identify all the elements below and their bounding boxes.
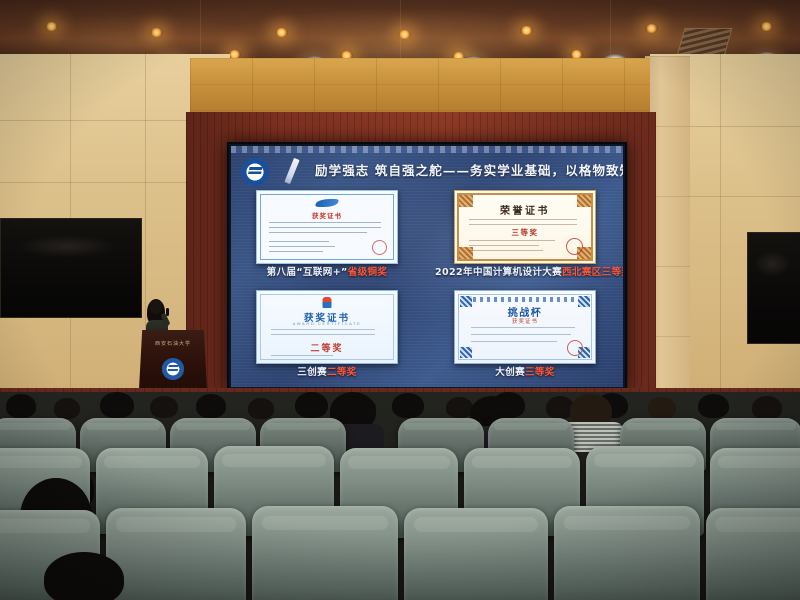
certificate-subheading: 获奖证书 — [512, 317, 538, 325]
audience-head — [196, 394, 226, 418]
certificate-caption: 2022年中国计算机设计大赛西北赛区三等奖 — [435, 264, 615, 278]
auditorium-seat — [106, 508, 246, 600]
presentation-slide: 励学强志 筑自强之舵——务实学业基础，以格物致知为祈求 获奖证书 — [231, 146, 623, 387]
auditorium-photo: 励学强志 筑自强之舵——务实学业基础，以格物致知为祈求 获奖证书 — [0, 0, 800, 600]
audience-head — [392, 393, 424, 418]
audience-area — [0, 392, 800, 600]
certificate-cell: 获奖证书 第八届“互联网+”省级铜奖 — [237, 190, 417, 282]
audience-head — [6, 394, 36, 418]
university-emblem-icon — [241, 158, 269, 186]
caption-main: 三创赛 — [297, 367, 327, 378]
auditorium-seat — [404, 508, 548, 600]
certificate-image-computer-design: 荣誉证书 三等奖 — [454, 190, 596, 264]
audience-head — [752, 396, 782, 420]
audience-head — [295, 392, 328, 418]
caption-main: 大创赛 — [495, 367, 525, 378]
audience-head — [150, 396, 178, 418]
certificate-image-sanchuangsai: 获奖证书 AWARD CERTIFICATE 二等奖 — [256, 290, 398, 364]
audience-head — [54, 398, 80, 419]
auditorium-seat — [252, 506, 398, 600]
wall-speaker-left — [0, 218, 142, 318]
caption-main: 第八届“互联网+” — [267, 267, 348, 278]
certificate-caption: 三创赛二等奖 — [237, 364, 417, 378]
caption-accent: 省级铜奖 — [348, 267, 388, 278]
slide-top-band — [231, 146, 623, 153]
ceiling-downlight — [398, 30, 411, 39]
certificate-award: 三等奖 — [512, 227, 539, 238]
certificate-cell: 获奖证书 AWARD CERTIFICATE 二等奖 三创赛二等奖 — [237, 290, 417, 382]
ceiling-downlight — [645, 24, 658, 33]
university-emblem-icon — [162, 358, 184, 380]
ceiling-downlight — [760, 22, 773, 31]
certificate-award: 二等奖 — [310, 341, 343, 354]
ceiling-downlight — [45, 22, 58, 31]
caption-accent: 西北赛区三等奖 — [562, 267, 623, 278]
ceiling-downlight — [275, 28, 288, 37]
certificate-cell: 荣誉证书 三等奖 2022年中国计算机设计大赛西北赛区三等奖 — [435, 190, 615, 282]
ceiling-downlight — [520, 26, 533, 35]
certificate-caption: 大创赛三等奖 — [435, 364, 615, 378]
torch-icon — [323, 297, 332, 308]
auditorium-seat — [554, 506, 700, 600]
caption-accent: 三等奖 — [525, 367, 555, 378]
certificate-seal — [566, 238, 583, 255]
caption-accent: 二等奖 — [327, 367, 357, 378]
certificate-grid: 获奖证书 第八届“互联网+”省级铜奖 — [231, 190, 623, 382]
wall-speaker-right — [747, 232, 800, 344]
certificate-caption: 第八届“互联网+”省级铜奖 — [237, 264, 417, 278]
certificate-cell: 挑战杯 获奖证书 大创赛三等奖 — [435, 290, 615, 382]
certificate-seal — [372, 240, 387, 255]
audience-head — [698, 394, 729, 418]
certificate-seal — [567, 340, 583, 356]
auditorium-seat — [706, 508, 800, 600]
audience-head — [44, 552, 124, 600]
slide-title: 励学强志 筑自强之舵——务实学业基础，以格物致知为祈求 — [315, 160, 617, 179]
projection-screen: 励学强志 筑自强之舵——务实学业基础，以格物致知为祈求 获奖证书 — [227, 142, 627, 391]
certificate-heading: 获奖证书 — [312, 210, 342, 220]
ceiling-downlight — [150, 28, 163, 37]
certificate-heading: 荣誉证书 — [500, 202, 550, 217]
certificate-image-challenge-cup: 挑战杯 获奖证书 — [454, 290, 596, 364]
audience-head — [648, 397, 676, 419]
certificate-subheading: AWARD CERTIFICATE — [293, 321, 362, 326]
wood-panel-upper — [190, 58, 650, 114]
speaker-head — [150, 300, 162, 314]
audience-head — [100, 392, 134, 418]
audience-head — [446, 397, 473, 418]
microphone-icon — [166, 308, 169, 316]
caption-main: 2022年中国计算机设计大赛 — [435, 267, 562, 278]
audience-head — [248, 398, 274, 419]
certificate-image-internet-plus: 获奖证书 — [256, 190, 398, 264]
podium-text: 西安石油大学 — [138, 340, 208, 347]
pencil-icon — [283, 156, 313, 186]
